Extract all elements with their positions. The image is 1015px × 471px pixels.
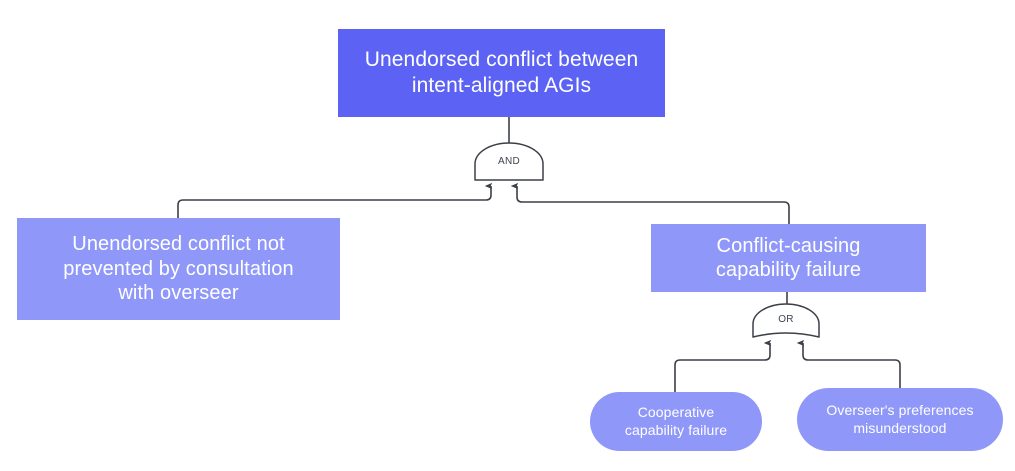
wire-left-to-and (178, 186, 491, 218)
node-top-event-label: Unendorsed conflict between intent-align… (357, 47, 647, 98)
wire-basic2-to-or (803, 343, 900, 388)
node-basic-event-right[interactable]: Overseer's preferences misunderstood (797, 388, 1003, 451)
or-gate-label: OR (752, 314, 820, 325)
node-top-event[interactable]: Unendorsed conflict between intent-align… (338, 29, 665, 117)
node-intermediate-right-label: Conflict-causing capability failure (708, 234, 869, 283)
node-intermediate-right[interactable]: Conflict-causing capability failure (651, 224, 926, 292)
node-basic-event-left[interactable]: Cooperative capability failure (590, 392, 762, 451)
node-intermediate-left-label: Unendorsed conflict not prevented by con… (55, 232, 301, 305)
or-gate[interactable]: OR (752, 309, 820, 338)
wire-basic1-to-or (675, 343, 770, 392)
and-gate[interactable]: AND (474, 147, 544, 181)
node-basic-event-right-label: Overseer's preferences misunderstood (818, 402, 981, 436)
node-basic-event-left-label: Cooperative capability failure (617, 404, 735, 438)
and-gate-label: AND (474, 156, 544, 167)
wire-right-to-and (517, 186, 789, 224)
node-intermediate-left[interactable]: Unendorsed conflict not prevented by con… (17, 218, 340, 320)
fault-tree-diagram: Unendorsed conflict between intent-align… (0, 0, 1015, 471)
